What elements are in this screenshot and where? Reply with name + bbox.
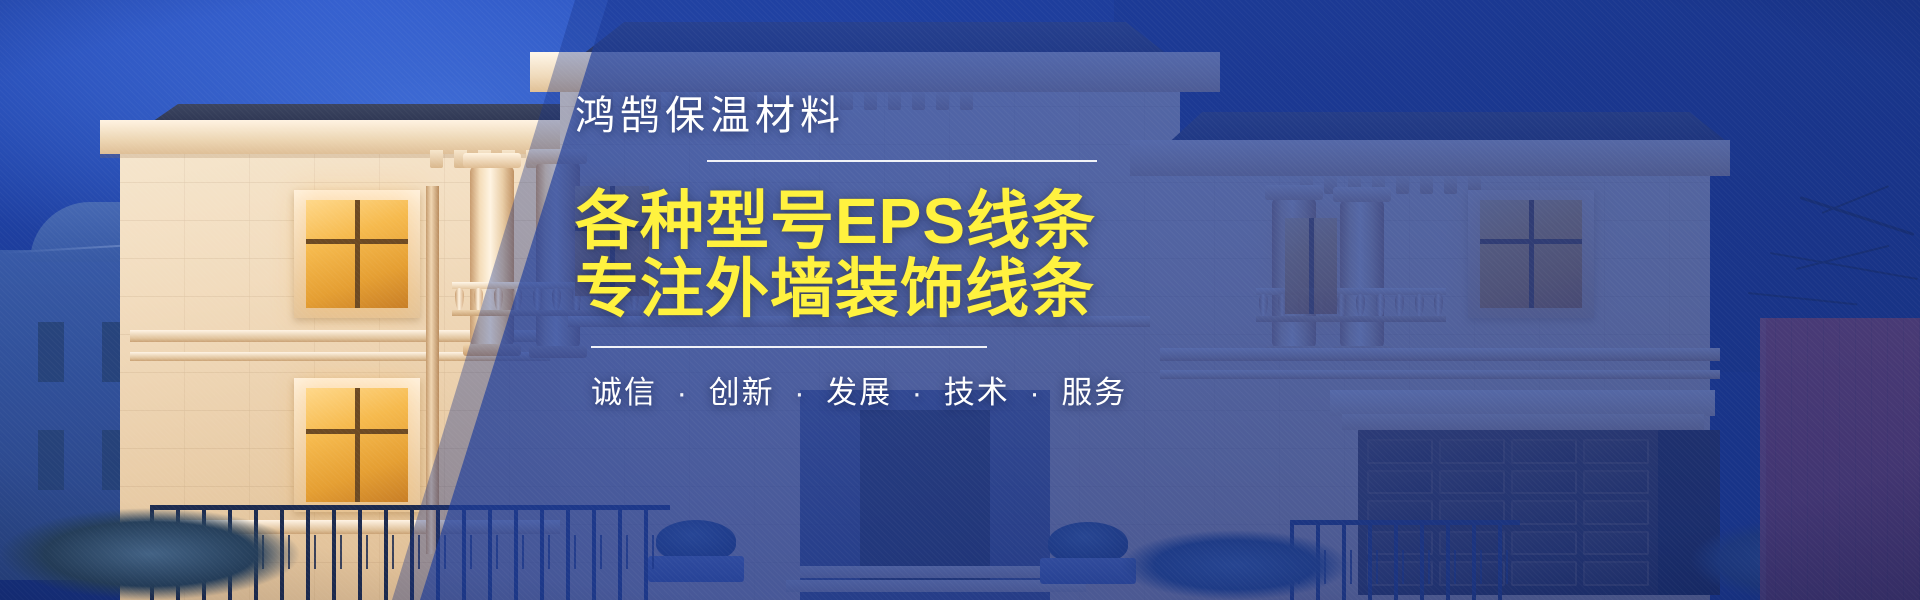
tagline-item-5: 服务 (1061, 375, 1127, 410)
lit-window (306, 200, 408, 308)
tagline-separator: · (1020, 375, 1050, 410)
headline-line-1: 各种型号EPS线条 (575, 185, 1096, 257)
tagline-item-4: 技术 (944, 375, 1010, 410)
divider-bottom (591, 346, 987, 348)
headline: 各种型号EPS线条 专注外墙装饰线条 (575, 188, 1135, 324)
tagline-separator: · (903, 375, 933, 410)
shrubbery (0, 508, 300, 600)
brand-name: 鸿鹄保温材料 (575, 96, 1135, 136)
tagline-separator: · (785, 375, 815, 410)
tagline-item-3: 发展 (826, 375, 892, 410)
tagline-separator: · (668, 375, 698, 410)
lit-window (306, 388, 408, 502)
tagline-item-1: 诚信 (591, 375, 657, 410)
promo-banner: 鸿鹄保温材料 各种型号EPS线条 专注外墙装饰线条 诚信 · 创新 · 发展 ·… (0, 0, 1920, 600)
divider-top (707, 160, 1097, 162)
banner-copy: 鸿鹄保温材料 各种型号EPS线条 专注外墙装饰线条 诚信 · 创新 · 发展 ·… (575, 96, 1135, 412)
tagline: 诚信 · 创新 · 发展 · 技术 · 服务 (575, 367, 1135, 412)
headline-line-2: 专注外墙装饰线条 (575, 256, 1135, 324)
tagline-item-2: 创新 (709, 375, 775, 410)
